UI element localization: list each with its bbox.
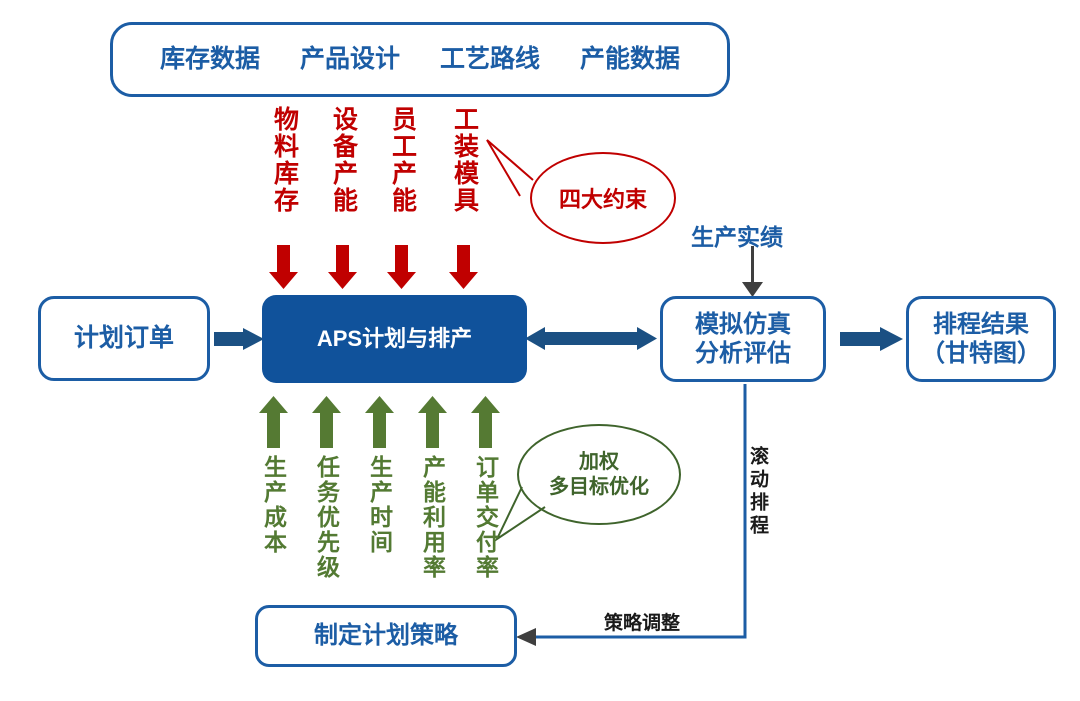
objective-callout-line2: 多目标优化	[549, 475, 649, 500]
objective-label-task-priority: 任务优先级	[314, 455, 337, 580]
node-simulation-line1: 模拟仿真	[695, 310, 791, 339]
arrow-aps-sim-bidirectional	[525, 327, 657, 350]
objective-label-production-cost: 生产成本	[261, 455, 284, 555]
node-simulation-analysis[interactable]: 模拟仿真 分析评估	[660, 296, 826, 382]
edge-label-production-actual: 生产实绩	[691, 218, 783, 252]
diagram-canvas: 库存数据 产品设计 工艺路线 产能数据 物料库存 设备产能 员工产能 工装模具 …	[0, 0, 1080, 701]
node-aps-label: APS计划与排产	[317, 326, 472, 353]
arrow-sim-to-result	[840, 327, 903, 351]
input-item-process-route: 工艺路线	[440, 44, 540, 75]
constraint-label-staff-capacity: 员工产能	[389, 106, 415, 214]
edge-label-rolling-schedule: 滚动排程	[744, 446, 771, 538]
constraint-callout-tail	[487, 140, 533, 196]
input-item-capacity-data: 产能数据	[580, 44, 680, 75]
objective-label-order-delivery-rate: 订单交付率	[473, 455, 496, 580]
node-policy-label: 制定计划策略	[314, 621, 458, 650]
constraint-callout-bubble: 四大约束	[530, 152, 676, 244]
arrow-order-to-aps	[214, 328, 264, 350]
input-item-product-design: 产品设计	[300, 44, 400, 75]
edge-label-policy-adjustment: 策略调整	[604, 608, 680, 635]
arrow-production-actual	[742, 246, 763, 297]
objective-callout-line1: 加权	[549, 450, 649, 475]
node-plan-order[interactable]: 计划订单	[38, 296, 210, 381]
node-scheduling-result[interactable]: 排程结果 （甘特图）	[906, 296, 1056, 382]
input-data-bar: 库存数据 产品设计 工艺路线 产能数据	[110, 22, 730, 97]
node-simulation-line2: 分析评估	[695, 339, 791, 368]
node-result-line1: 排程结果	[921, 310, 1041, 339]
node-result-line2: （甘特图）	[921, 339, 1041, 368]
constraint-callout-text: 四大约束	[559, 182, 647, 214]
node-aps-planning[interactable]: APS计划与排产	[262, 295, 527, 383]
node-plan-policy[interactable]: 制定计划策略	[255, 605, 517, 667]
node-plan-order-label: 计划订单	[74, 323, 174, 354]
constraint-arrows	[269, 245, 478, 289]
constraint-label-tooling-mold: 工装模具	[451, 106, 477, 214]
constraint-label-equipment-capacity: 设备产能	[330, 106, 356, 214]
input-item-inventory: 库存数据	[160, 44, 260, 75]
objective-callout-bubble: 加权 多目标优化	[517, 424, 681, 525]
constraint-label-material-inventory: 物料库存	[271, 106, 297, 214]
objective-label-production-time: 生产时间	[367, 455, 390, 555]
objective-arrows	[259, 396, 500, 448]
objective-label-capacity-utilization: 产能利用率	[420, 455, 443, 580]
